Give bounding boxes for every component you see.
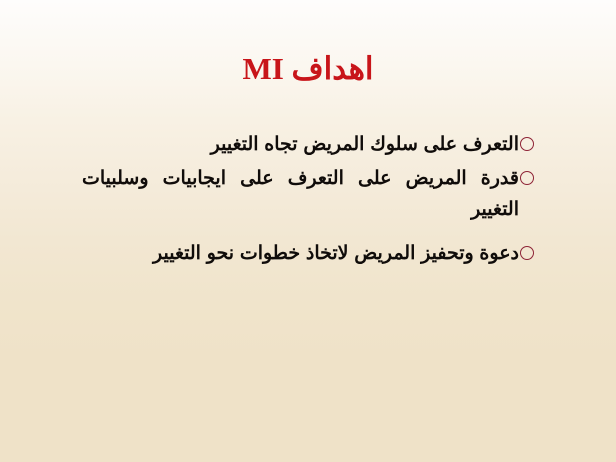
list-item: قدرة المريض على التعرف على ايجابيات وسلب… bbox=[82, 163, 534, 225]
bullet-list: التعرف على سلوك المريض تجاه التغيير قدرة… bbox=[82, 129, 534, 272]
hollow-circle-bullet-icon bbox=[520, 246, 534, 260]
list-item-label: التعرف على سلوك المريض تجاه التغيير bbox=[82, 129, 519, 160]
list-item-label: دعوة وتحفيز المريض لاتخاذ خطوات نحو التغ… bbox=[82, 238, 519, 269]
presentation-slide: اهداف MI التعرف على سلوك المريض تجاه الت… bbox=[0, 0, 616, 462]
list-item: دعوة وتحفيز المريض لاتخاذ خطوات نحو التغ… bbox=[82, 238, 534, 269]
slide-title-container: اهداف MI bbox=[0, 50, 616, 88]
hollow-circle-bullet-icon bbox=[520, 137, 534, 151]
list-spacer bbox=[82, 228, 534, 238]
page-title: اهداف MI bbox=[242, 50, 373, 88]
list-item-label: قدرة المريض على التعرف على ايجابيات وسلب… bbox=[82, 163, 519, 225]
list-item: التعرف على سلوك المريض تجاه التغيير bbox=[82, 129, 534, 160]
hollow-circle-bullet-icon bbox=[520, 171, 534, 185]
